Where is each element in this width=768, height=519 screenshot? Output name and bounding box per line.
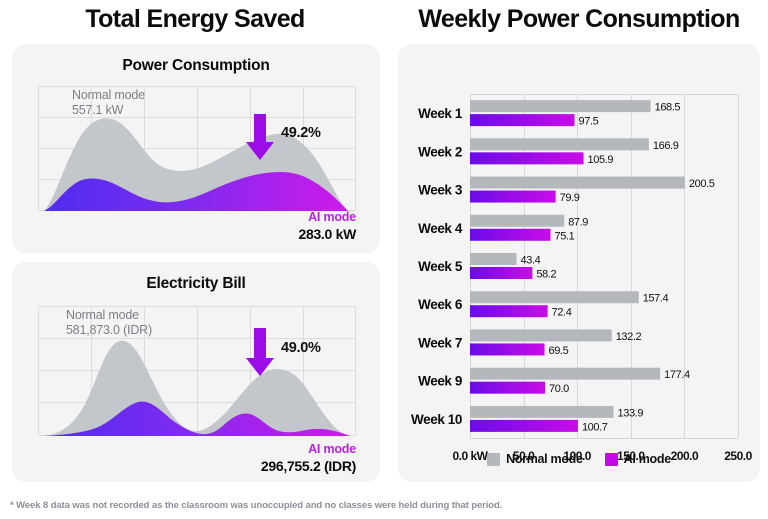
power-consumption-area-chart: Normal mode 557.1 kW 49.2% (38, 86, 356, 211)
bar-normal-mode (470, 100, 651, 112)
bar-category-label: Week 3 (418, 183, 463, 198)
power-consumption-card-title: Power Consumption (12, 44, 380, 75)
bar-value-label: 105.9 (588, 154, 614, 166)
bar-normal-mode (470, 329, 612, 341)
bar-category-label: Week 2 (418, 144, 462, 159)
bar-value-label: 100.7 (582, 421, 608, 433)
bar-normal-mode (470, 368, 660, 380)
footnote: * Week 8 data was not recorded as the cl… (10, 500, 502, 511)
power-ai-mode-label: AI mode (308, 210, 356, 224)
bar-category-label: Week 7 (418, 335, 462, 350)
bar-value-label: 87.9 (568, 216, 588, 228)
bar-value-label: 200.5 (689, 178, 715, 190)
left-column-title: Total Energy Saved (0, 0, 390, 34)
bar-normal-mode (470, 177, 685, 189)
bar-category-label: Week 9 (418, 374, 462, 389)
legend-item-ai-mode: AI mode (605, 452, 671, 466)
bill-ai-mode-value: 296,755.2 (IDR) (261, 458, 356, 474)
power-normal-mode-label: Normal mode 557.1 kW (72, 88, 145, 118)
bar-value-label: 177.4 (664, 369, 690, 381)
bar-normal-mode (470, 138, 649, 150)
bar-category-label: Week 5 (418, 259, 463, 274)
bar-ai-mode (470, 343, 545, 355)
bill-normal-mode-label: Normal mode 581,873.0 (IDR) (66, 308, 152, 338)
legend-label-ai-mode: AI mode (624, 452, 671, 466)
bar-category-label: Week 10 (411, 412, 462, 427)
bar-value-label: 70.0 (549, 383, 569, 395)
power-ai-mode-value: 283.0 kW (298, 226, 356, 242)
right-column: Weekly Power Consumption Week 1168.597.5… (390, 0, 768, 519)
bar-normal-mode (470, 215, 564, 227)
legend-swatch-ai-mode (605, 453, 618, 466)
bar-category-label: Week 4 (418, 221, 463, 236)
bar-value-label: 69.5 (549, 345, 569, 357)
weekly-bar-chart: Week 1168.597.5Week 2166.9105.9Week 3200… (398, 80, 760, 482)
weekly-bar-chart-svg: Week 1168.597.5Week 2166.9105.9Week 3200… (398, 80, 760, 482)
bill-ai-mode-label: AI mode (308, 442, 356, 456)
weekly-power-card: Week 1168.597.5Week 2166.9105.9Week 3200… (398, 44, 760, 482)
bar-value-label: 166.9 (653, 140, 679, 152)
bill-reduction-percent: 49.0% (281, 340, 321, 356)
bar-ai-mode (470, 382, 545, 394)
power-consumption-card: Power Consumption (12, 44, 380, 253)
bar-value-label: 157.4 (643, 293, 669, 305)
bar-value-label: 72.4 (552, 307, 572, 319)
weekly-chart-legend: Normal mode AI mode (398, 452, 760, 466)
bar-value-label: 132.2 (616, 331, 642, 343)
bar-category-label: Week 1 (418, 106, 463, 121)
bar-value-label: 75.1 (555, 230, 575, 242)
bar-normal-mode (470, 253, 517, 265)
left-column: Total Energy Saved Power Consumption (0, 0, 390, 519)
bar-value-label: 79.9 (560, 192, 580, 204)
power-reduction-percent: 49.2% (281, 125, 321, 141)
bar-value-label: 168.5 (655, 102, 681, 114)
bar-ai-mode (470, 114, 575, 126)
bar-value-label: 97.5 (579, 116, 599, 128)
bar-normal-mode (470, 406, 614, 418)
bar-value-label: 43.4 (521, 255, 541, 267)
legend-label-normal-mode: Normal mode (506, 452, 583, 466)
bar-normal-mode (470, 291, 639, 303)
bar-ai-mode (470, 229, 551, 241)
bar-ai-mode (470, 152, 584, 164)
bar-value-label: 133.9 (618, 407, 644, 419)
legend-swatch-normal-mode (487, 453, 500, 466)
bar-category-label: Week 6 (418, 297, 463, 312)
bar-value-label: 58.2 (536, 269, 556, 281)
right-column-title: Weekly Power Consumption (390, 0, 768, 34)
bar-ai-mode (470, 191, 556, 203)
electricity-bill-area-chart: Normal mode 581,873.0 (IDR) 49.0% (38, 306, 356, 436)
bar-ai-mode (470, 267, 532, 279)
infographic-root: Total Energy Saved Power Consumption (0, 0, 768, 519)
bar-ai-mode (470, 420, 578, 432)
legend-item-normal-mode: Normal mode (487, 452, 583, 466)
bar-ai-mode (470, 305, 548, 317)
electricity-bill-card: Electricity Bill (12, 262, 380, 482)
electricity-bill-card-title: Electricity Bill (12, 262, 380, 293)
